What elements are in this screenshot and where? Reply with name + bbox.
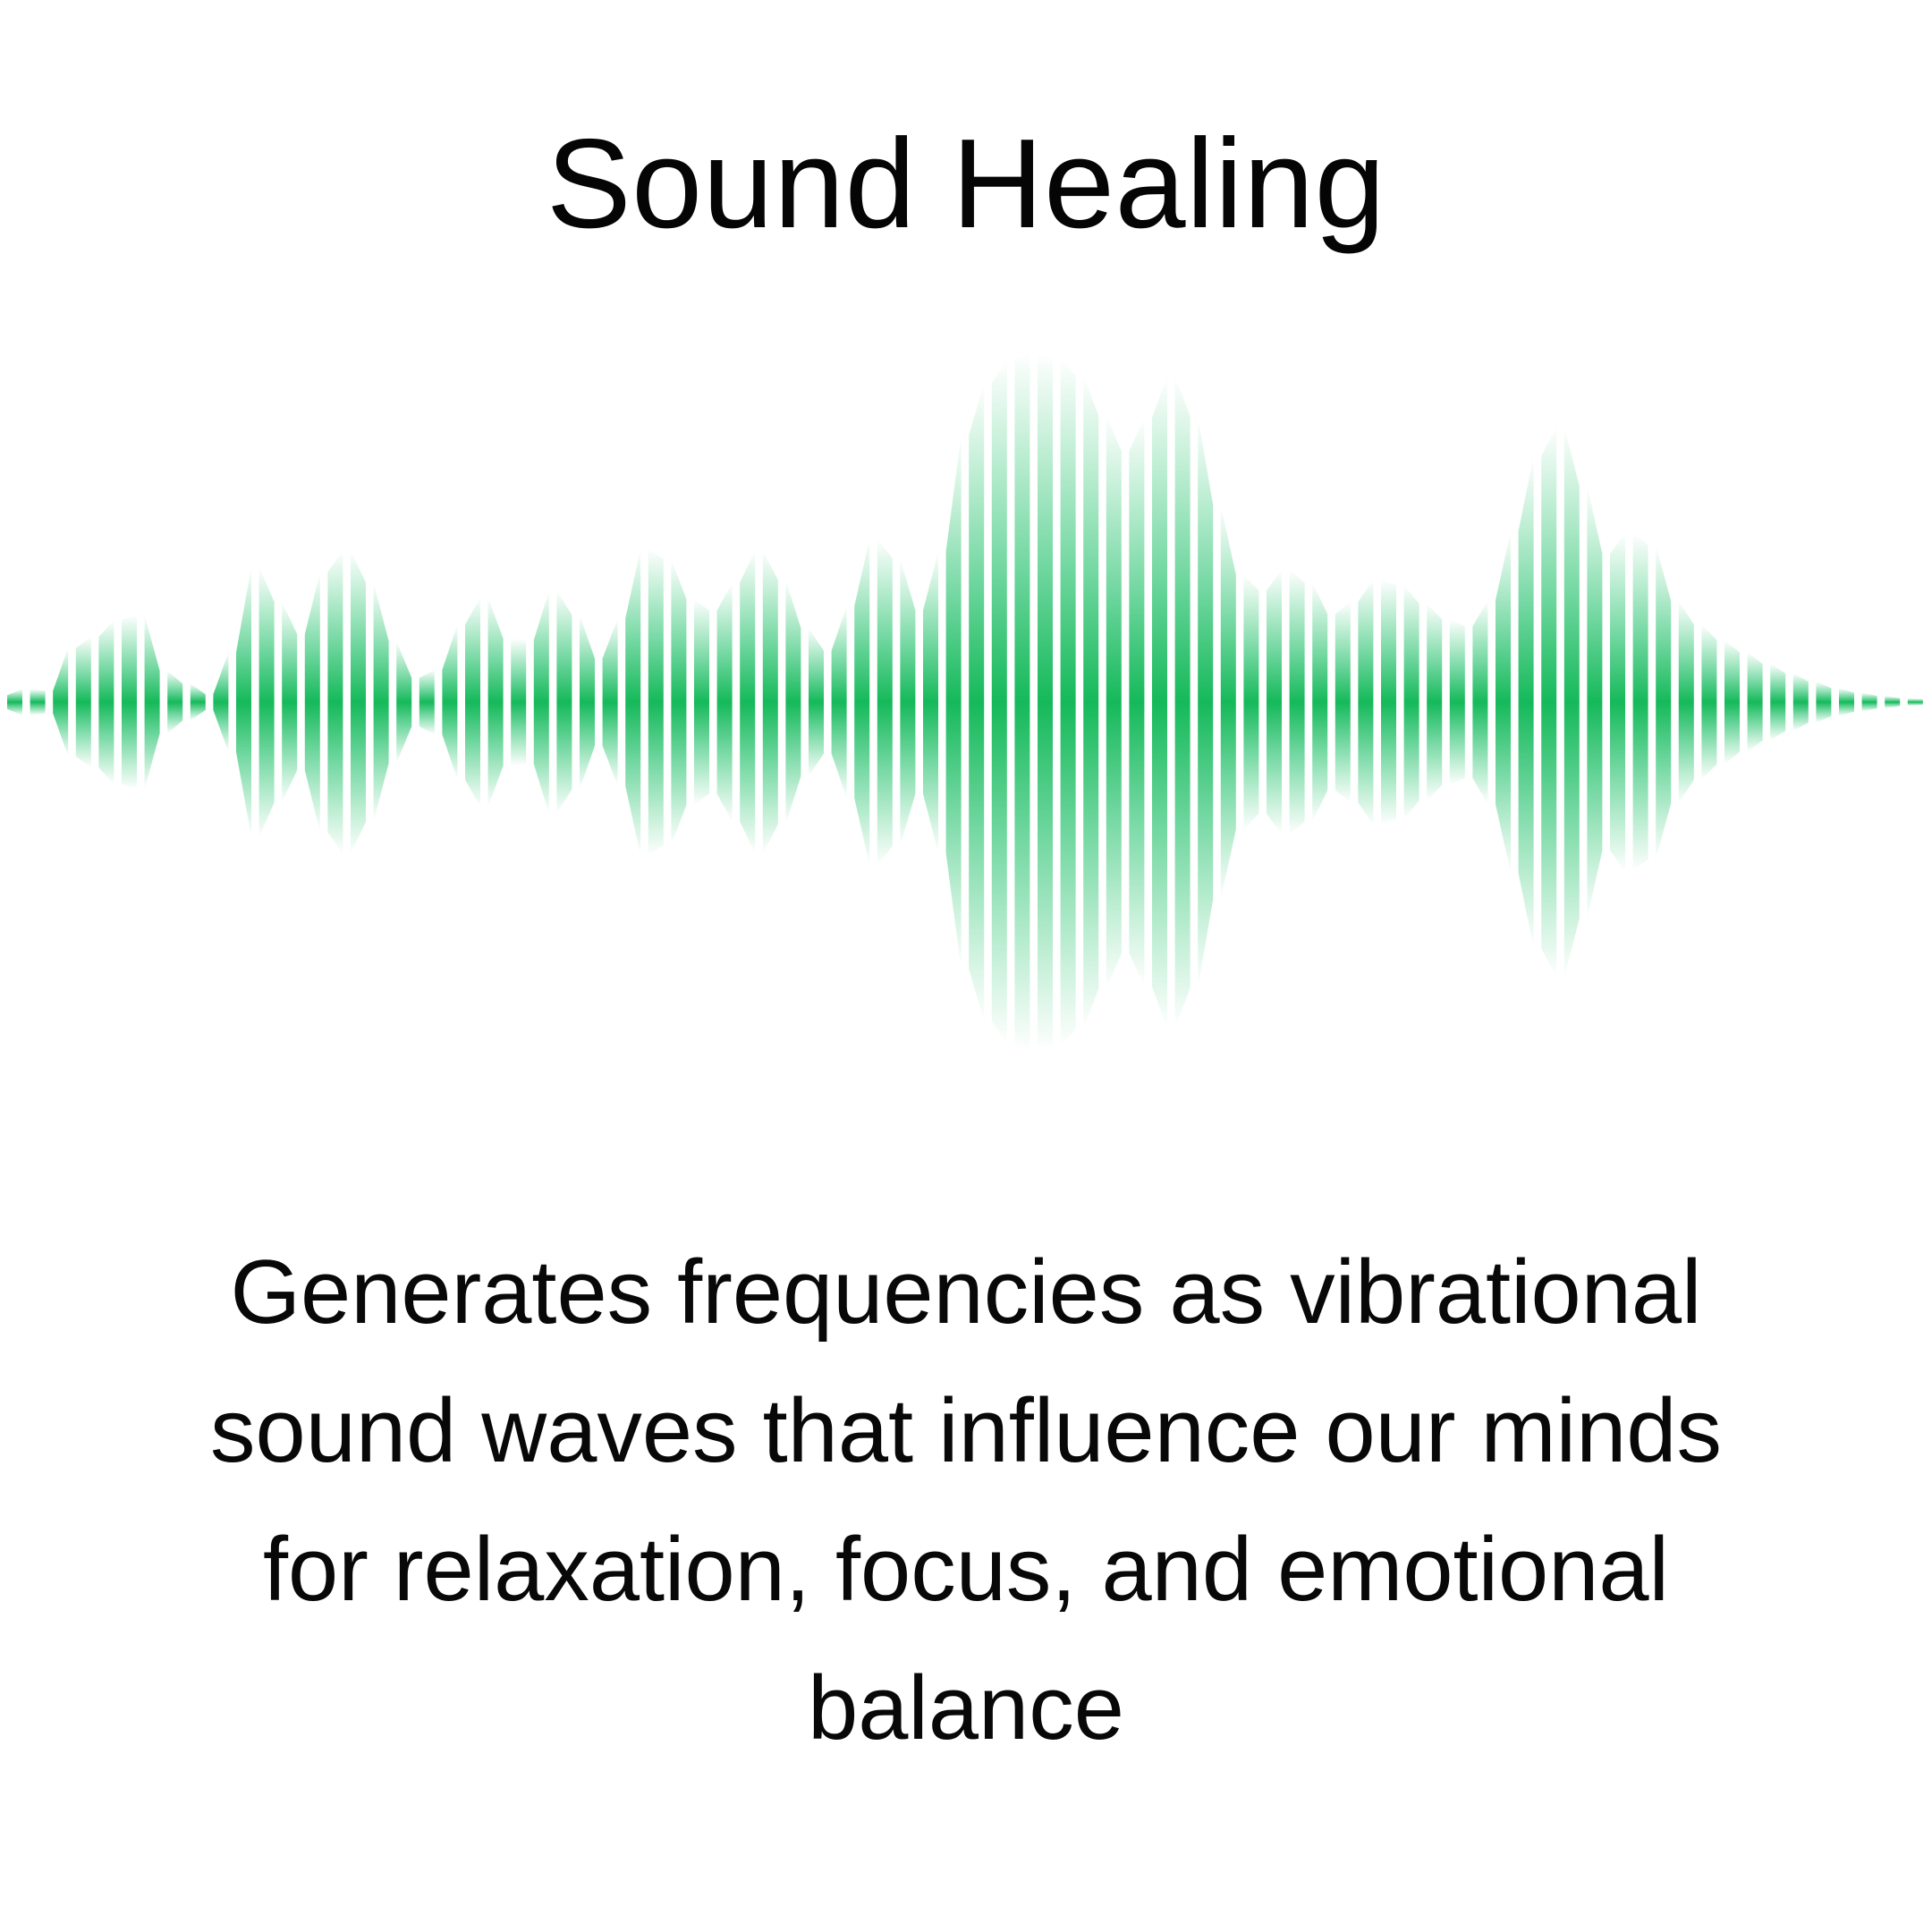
description-text: Generates frequencies as vibrational sou… [0,1224,1932,1778]
waveform-bar [1633,533,1648,871]
waveform-bar [809,628,824,776]
waveform-bar [327,550,343,853]
waveform-bar [1610,533,1625,871]
waveform-bar [1083,375,1098,1029]
waveform-bar [1793,674,1809,731]
waveform-bar [1770,664,1785,741]
waveform-bar [1496,531,1511,873]
waveform-bar [648,548,664,855]
waveform-bar [191,684,206,721]
waveform-bar [763,550,778,853]
waveform-bar [122,615,137,790]
waveform-bar [236,567,251,837]
waveform-bar [1427,604,1442,801]
waveform-bar [1656,546,1671,860]
waveform-bar [1175,376,1191,1028]
waveform-bar [1541,427,1556,978]
waveform-bar [854,539,869,866]
waveform-bar [1701,624,1716,780]
waveform-bar [1198,416,1213,988]
waveform-bar [1335,602,1351,802]
waveform-bar [580,615,595,790]
waveform-bar [396,641,411,764]
sound-healing-card: Sound Healing Generates frequencies as v… [0,0,1932,1932]
waveform-bar [717,582,733,821]
waveform-bar [511,639,526,766]
waveform-bar [1472,600,1487,804]
waveform-bar [167,671,182,733]
waveform-bar [30,689,46,715]
waveform-bar [556,590,572,814]
waveform-bar [1587,486,1602,919]
waveform-bar [1129,418,1144,987]
waveform-bar [282,602,297,802]
caption-line: sound waves that influence our minds [21,1362,1911,1501]
waveform-bar [1724,640,1740,764]
waveform-bar [969,383,984,1021]
waveform-bar [1312,582,1327,821]
waveform-bar [1106,415,1122,989]
page-title: Sound Healing [0,108,1932,260]
waveform-bar [1679,601,1694,803]
waveform-bar [488,597,504,807]
waveform-bar [1381,580,1396,826]
waveform-bar [1748,652,1763,751]
waveform-bar [213,652,228,751]
waveform-bar [374,582,389,821]
waveform-bar [534,590,549,814]
waveform-bar [1358,580,1373,826]
waveform-bar [785,580,801,825]
waveform-bar [694,599,709,805]
waveform-bar [259,567,275,837]
waveform-bar [351,550,366,853]
waveform-bar [740,550,755,853]
waveform-bar [1267,570,1282,835]
waveform-bar [1519,456,1534,948]
waveform-bar [992,360,1007,1044]
caption-line: for relaxation, focus, and emotional [21,1501,1911,1640]
waveform-bar [98,620,114,784]
waveform-bar [625,548,640,855]
waveform-bar [1221,505,1236,900]
waveform-bar [1885,696,1900,708]
waveform-bar [1014,353,1030,1051]
waveform-bar [1908,699,1923,707]
waveform-bar [1061,359,1076,1046]
waveform-bar [946,436,962,970]
waveform-bar [923,551,938,852]
waveform-bar [76,637,91,767]
waveform-bar [53,648,68,757]
waveform-bar [419,670,435,734]
waveform-bar [1839,688,1854,716]
waveform-illustration [0,349,1932,1055]
waveform-bar [877,539,893,866]
waveform-bar [305,572,320,833]
waveform-bar [1564,427,1580,978]
waveform-bar [442,624,457,780]
waveform-bar [671,559,686,845]
waveform-bar [7,689,22,715]
waveform-bar [1038,353,1053,1051]
waveform-bar [1404,585,1419,818]
caption-line: Generates frequencies as vibrational [21,1224,1911,1362]
waveform-bar [832,606,847,799]
waveform-bar [1862,692,1877,711]
caption-line: balance [21,1640,1911,1778]
waveform-bar [603,618,618,785]
waveform-bar [1816,682,1831,723]
waveform-bar [900,558,915,846]
waveform-bar [1152,376,1167,1028]
waveform-bar [465,597,480,807]
waveform-bar [1450,619,1465,784]
waveform-bar [1290,570,1305,835]
waveform-bars [7,353,1923,1051]
waveform-bar [1243,575,1258,830]
waveform-bar [145,615,160,790]
waveform-svg [0,349,1932,1055]
